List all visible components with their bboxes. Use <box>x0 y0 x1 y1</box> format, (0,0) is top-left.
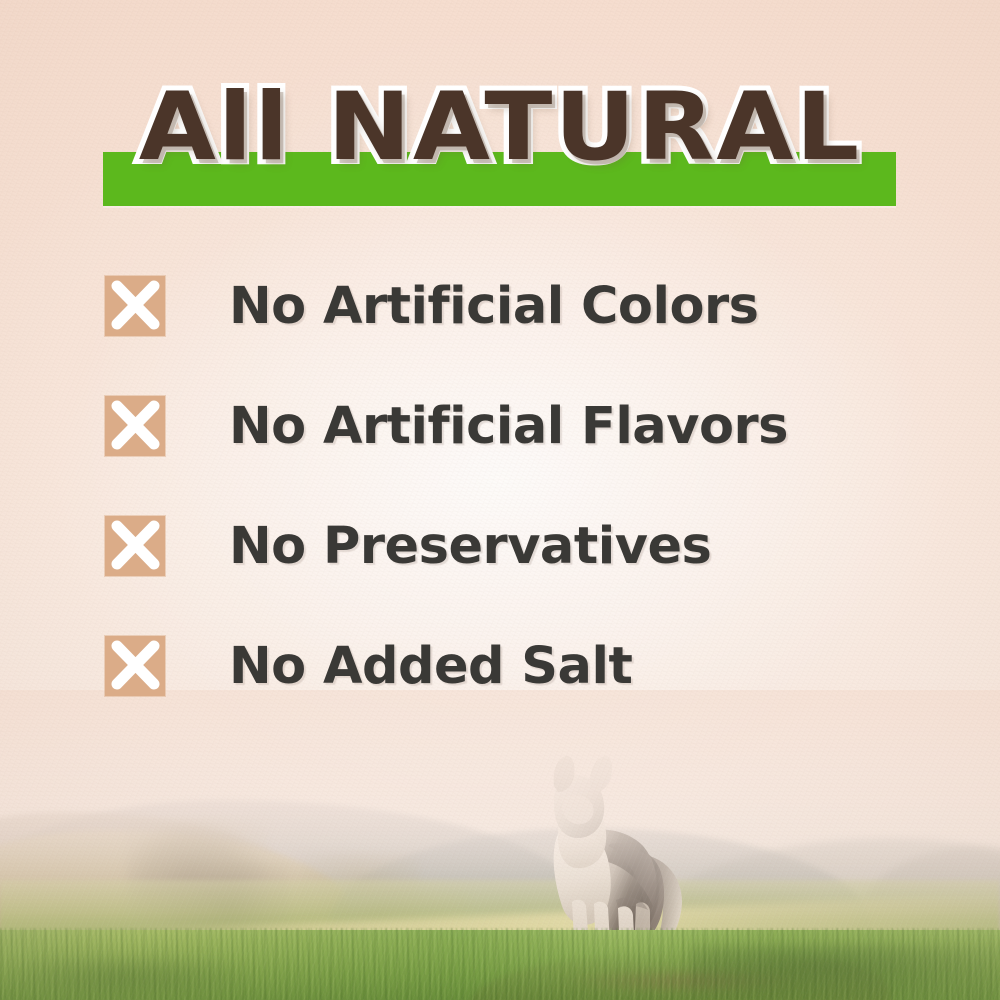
list-item: No Artificial Colors <box>0 246 1000 366</box>
claims-list: No Artificial Colors No Artificial Flavo… <box>0 246 1000 726</box>
list-item-label: No Preservatives <box>229 521 711 572</box>
x-mark-icon <box>105 516 165 576</box>
list-item-label: No Artificial Flavors <box>229 401 788 452</box>
all-natural-product-poster: All NATURAL No Artificial Colors <box>0 0 1000 1000</box>
list-item: No Added Salt <box>0 606 1000 726</box>
list-item-label: No Added Salt <box>229 641 632 692</box>
headline-block: All NATURAL <box>0 68 1000 198</box>
poster-content: All NATURAL No Artificial Colors <box>0 0 1000 1000</box>
x-mark-icon <box>105 276 165 336</box>
x-mark-icon <box>105 636 165 696</box>
list-item: No Preservatives <box>0 486 1000 606</box>
list-item: No Artificial Flavors <box>0 366 1000 486</box>
x-mark-icon <box>105 396 165 456</box>
page-title: All NATURAL <box>0 68 1000 198</box>
list-item-label: No Artificial Colors <box>229 281 758 332</box>
